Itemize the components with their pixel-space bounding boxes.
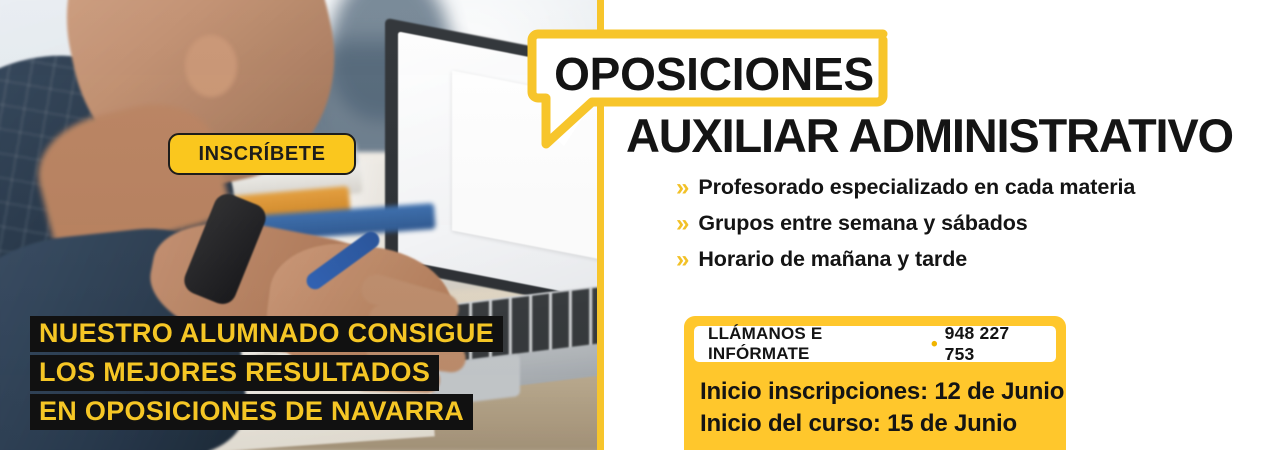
list-item-label: Profesorado especializado en cada materi…	[698, 175, 1135, 200]
promo-banner: INSCRÍBETE NUESTRO ALUMNADO CONSIGUE LOS…	[0, 0, 1280, 450]
phone-number[interactable]: 948 227 753	[945, 323, 1042, 365]
list-item-label: Horario de mañana y tarde	[698, 247, 967, 272]
list-item: » Grupos entre semana y sábados	[676, 211, 1276, 236]
headline-left: NUESTRO ALUMNADO CONSIGUE LOS MEJORES RE…	[30, 316, 550, 430]
course-subtitle: AUXILIAR ADMINISTRATIVO	[626, 108, 1280, 163]
double-chevron-icon: »	[676, 212, 689, 236]
double-chevron-icon: »	[676, 248, 689, 272]
list-item-label: Grupos entre semana y sábados	[698, 211, 1027, 236]
headline-left-line-2: LOS MEJORES RESULTADOS	[30, 355, 439, 391]
inscribete-button-label: INSCRÍBETE	[198, 143, 325, 166]
right-content-panel: AUXILIAR ADMINISTRATIVO » Profesorado es…	[604, 0, 1280, 450]
inscribete-button[interactable]: INSCRÍBETE	[168, 133, 356, 175]
feature-list: » Profesorado especializado en cada mate…	[676, 175, 1276, 283]
phone-strip[interactable]: LLÁMANOS E INFÓRMATE • 948 227 753	[694, 326, 1056, 362]
separator-dot-icon: •	[931, 335, 938, 354]
headline-left-line-3: EN OPOSICIONES DE NAVARRA	[30, 394, 473, 430]
headline-left-line-1: NUESTRO ALUMNADO CONSIGUE	[30, 316, 503, 352]
double-chevron-icon: »	[676, 176, 689, 200]
enrollment-start-date: Inicio inscripciones: 12 de Junio	[700, 376, 1050, 408]
course-start-date: Inicio del curso: 15 de Junio	[700, 408, 1050, 440]
call-label: LLÁMANOS E INFÓRMATE	[708, 324, 924, 364]
contact-box: LLÁMANOS E INFÓRMATE • 948 227 753 Inici…	[684, 316, 1066, 450]
dates-block: Inicio inscripciones: 12 de Junio Inicio…	[694, 362, 1056, 439]
list-item: » Profesorado especializado en cada mate…	[676, 175, 1276, 200]
list-item: » Horario de mañana y tarde	[676, 247, 1276, 272]
